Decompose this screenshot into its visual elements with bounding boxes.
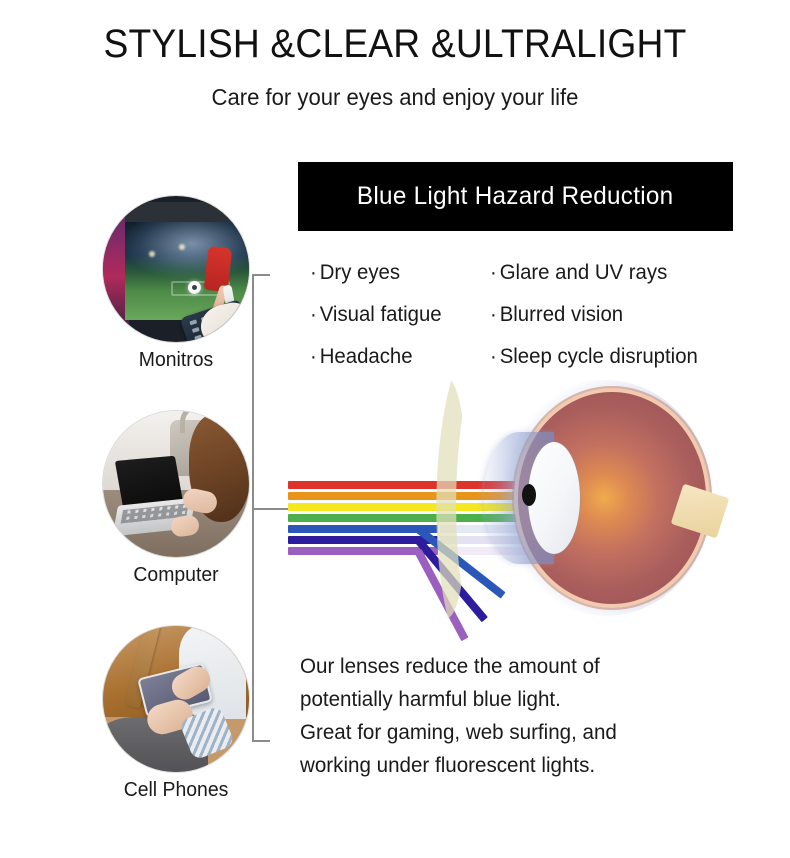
list-item-label: Monitros	[98, 349, 253, 372]
list-item-label: Computer	[98, 564, 253, 587]
pupil	[522, 484, 536, 506]
list-item: ·Dry eyes	[310, 252, 485, 294]
list-item-label: Dry eyes	[320, 261, 400, 284]
list-item: Monitros	[96, 196, 256, 372]
list-item-label: Glare and UV rays	[500, 261, 668, 284]
description-line: working under fluorescent lights.	[300, 749, 761, 782]
list-item: Cell Phones	[96, 626, 256, 802]
list-item: ·Glare and UV rays	[490, 252, 762, 294]
tv-bezel	[125, 202, 249, 224]
crystalline-lens	[528, 442, 580, 554]
stadium-light	[149, 251, 155, 257]
description-line: potentially harmful blue light.	[300, 683, 761, 716]
list-item: ·Visual fatigue	[310, 294, 485, 336]
monitor-photo	[103, 196, 249, 342]
bullet-icon: ·	[490, 303, 497, 326]
description-line: Great for gaming, web surfing, and	[300, 716, 761, 749]
list-item: ·Sleep cycle disruption	[490, 336, 762, 378]
blue-light-hazard-banner: Blue Light Hazard Reduction	[298, 162, 733, 231]
banner-label: Blue Light Hazard Reduction	[357, 182, 674, 211]
bullet-icon: ·	[310, 261, 317, 284]
bullet-icon: ·	[310, 303, 317, 326]
laptop-illustration	[103, 411, 249, 557]
cell-phone-photo	[103, 626, 249, 772]
bracket-connector	[252, 274, 288, 742]
bracket-middle-arm	[252, 508, 288, 510]
symptom-column-left: ·Dry eyes ·Visual fatigue ·Headache	[310, 252, 490, 378]
page-title: STYLISH &CLEAR &ULTRALIGHT	[28, 22, 763, 67]
symptom-column-right: ·Glare and UV rays ·Blurred vision ·Slee…	[490, 252, 770, 378]
list-item-label: Visual fatigue	[320, 303, 442, 326]
infographic-page: STYLISH &CLEAR &ULTRALIGHT Care for your…	[0, 0, 790, 858]
eye-cross-section	[484, 380, 712, 616]
stadium-light	[179, 244, 185, 250]
page-subtitle: Care for your eyes and enjoy your life	[16, 84, 774, 111]
computer-photo	[103, 411, 249, 557]
blue-light-filtering-lens-eye-diagram	[288, 378, 708, 618]
description-line: Our lenses reduce the amount of	[300, 650, 761, 683]
bracket-top-arm	[252, 274, 270, 276]
bracket-bottom-arm	[252, 740, 270, 742]
soccer-ball-icon	[188, 281, 201, 294]
smartphone-illustration	[103, 626, 249, 772]
bullet-icon: ·	[490, 345, 497, 368]
description-paragraph: Our lenses reduce the amount of potentia…	[300, 650, 770, 782]
list-item: Computer	[96, 411, 256, 587]
bullet-icon: ·	[310, 345, 317, 368]
list-item: ·Headache	[310, 336, 485, 378]
list-item: ·Blurred vision	[490, 294, 762, 336]
list-item-label: Blurred vision	[500, 303, 623, 326]
tv-illustration	[103, 196, 249, 342]
list-item-label: Cell Phones	[98, 779, 253, 802]
list-item-label: Sleep cycle disruption	[500, 345, 698, 368]
list-item-label: Headache	[320, 345, 413, 368]
bullet-icon: ·	[490, 261, 497, 284]
